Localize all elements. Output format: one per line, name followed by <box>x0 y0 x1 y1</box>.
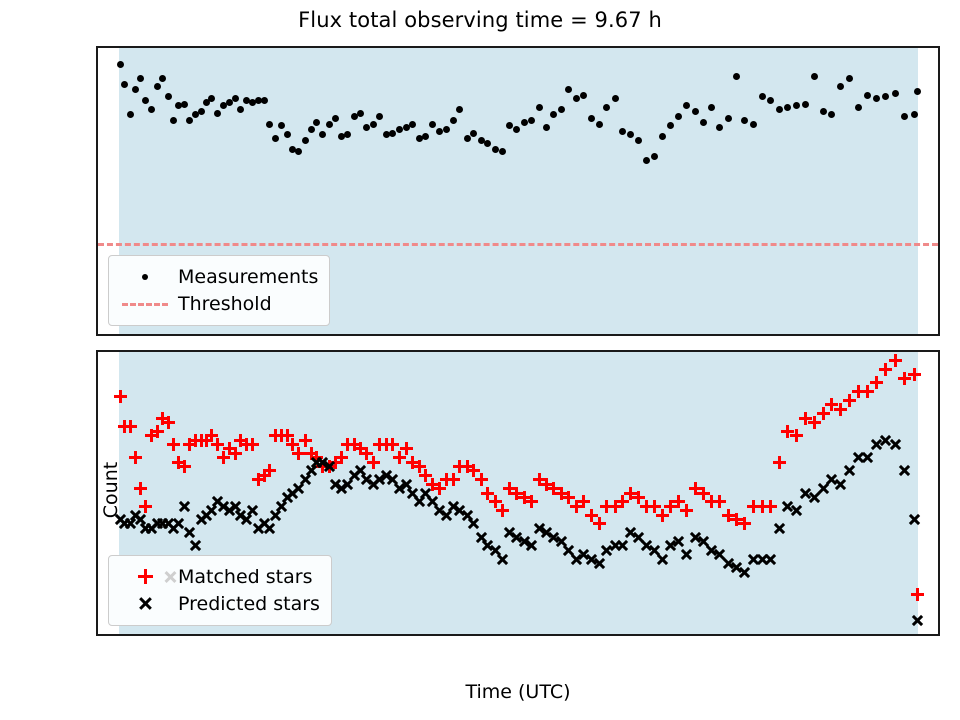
dot-marker-icon <box>120 266 170 288</box>
measurement-point <box>363 124 370 131</box>
legend-item-measurements: Measurements <box>120 263 318 290</box>
measurement-point <box>635 137 642 144</box>
predicted-star-point <box>178 500 191 513</box>
matched-star-point <box>496 504 509 517</box>
measurement-point <box>332 115 339 122</box>
measurement-point <box>759 93 766 100</box>
predicted-star-point <box>773 522 786 535</box>
measurement-point <box>261 97 268 104</box>
matched-star-point <box>386 438 399 451</box>
x-tick-mark <box>796 635 798 636</box>
y-tick-mark <box>96 153 97 155</box>
predicted-star-point <box>467 517 480 530</box>
x-tick-mark <box>383 635 385 636</box>
measurement-point <box>536 104 543 111</box>
y-tick-mark <box>96 334 97 336</box>
measurement-point <box>170 117 177 124</box>
measurement-point <box>214 110 221 117</box>
measurement-point <box>396 126 403 133</box>
cross-marker-icon <box>120 593 170 615</box>
matched-star-point <box>246 438 259 451</box>
predicted-star-point <box>898 464 911 477</box>
x-tick-mark <box>135 635 137 636</box>
measurement-point <box>901 113 908 120</box>
x-tick-mark <box>879 635 881 636</box>
predicted-star-point <box>496 553 509 566</box>
matched-star-point <box>167 438 180 451</box>
matched-star-point <box>162 416 175 429</box>
matched-star-point <box>889 354 902 367</box>
predicted-star-point <box>843 464 856 477</box>
x-tick-mark <box>879 335 881 336</box>
measurement-point <box>198 108 205 115</box>
legend-item-predicted-stars: Predicted stars <box>120 590 320 617</box>
bottom-panel-legend: Matched stars Predicted stars <box>108 555 332 626</box>
x-tick-mark <box>218 335 220 336</box>
measurement-point <box>596 121 603 128</box>
x-tick-mark <box>466 635 468 636</box>
figure-root: Flux total observing time = 9.67 h 0.00.… <box>0 0 960 720</box>
matched-star-point <box>773 456 786 469</box>
measurement-point <box>573 95 580 102</box>
measurement-point <box>659 133 666 140</box>
measurement-point <box>181 101 188 108</box>
matched-star-point <box>764 500 777 513</box>
measurement-point <box>492 146 499 153</box>
measurement-point <box>302 137 309 144</box>
matched-star-point <box>593 517 606 530</box>
measurement-point <box>914 88 921 95</box>
x-axis-label: Time (UTC) <box>96 681 940 703</box>
legend-label-predicted-stars: Predicted stars <box>178 593 320 615</box>
figure-title: Flux total observing time = 9.67 h <box>0 8 960 32</box>
measurement-point <box>692 108 699 115</box>
measurement-point <box>619 128 626 135</box>
measurement-point <box>820 108 827 115</box>
measurement-point <box>521 119 528 126</box>
x-tick-mark <box>631 635 633 636</box>
measurement-point <box>117 61 124 68</box>
bottom-panel-axes: 406080 20:0021:0022:0023:0000:0001:0002:… <box>96 350 940 636</box>
legend-label-threshold: Threshold <box>178 293 272 315</box>
measurement-point <box>700 119 707 126</box>
legend-label-matched-stars: Matched stars <box>178 566 312 588</box>
predicted-star-point <box>764 553 777 566</box>
x-tick-mark <box>796 335 798 336</box>
measurement-point <box>266 121 273 128</box>
measurement-point <box>499 148 506 155</box>
top-panel-legend: Measurements Threshold <box>108 255 330 326</box>
predicted-star-point <box>525 539 538 552</box>
predicted-star-point <box>672 535 685 548</box>
matched-star-point <box>870 376 883 389</box>
x-tick-mark <box>466 335 468 336</box>
measurement-point <box>409 121 416 128</box>
measurement-point <box>443 126 450 133</box>
y-tick-mark <box>96 427 97 429</box>
predicted-star-point <box>911 614 924 627</box>
measurement-point <box>837 83 844 90</box>
measurement-point <box>776 106 783 113</box>
predicted-star-point <box>183 526 196 539</box>
y-tick-mark <box>96 243 97 245</box>
predicted-star-point <box>323 460 336 473</box>
matched-star-point <box>263 464 276 477</box>
x-tick-mark <box>300 335 302 336</box>
measurement-point <box>284 131 291 138</box>
measurement-point <box>892 90 899 97</box>
measurement-point <box>802 101 809 108</box>
legend-label-measurements: Measurements <box>178 266 318 288</box>
measurement-point <box>429 121 436 128</box>
overlapping-cross-icon <box>163 570 177 584</box>
measurement-point <box>470 130 477 137</box>
matched-star-point <box>525 495 538 508</box>
matched-star-point <box>790 429 803 442</box>
x-tick-mark <box>218 635 220 636</box>
matched-star-point <box>447 473 460 486</box>
predicted-star-point <box>908 513 921 526</box>
matched-star-point <box>713 495 726 508</box>
measurement-point <box>580 92 587 99</box>
predicted-star-point <box>834 478 847 491</box>
y-tick-mark <box>96 62 97 64</box>
predicted-star-point <box>656 553 669 566</box>
predicted-star-point <box>263 522 276 535</box>
measurement-point <box>326 121 333 128</box>
x-tick-mark <box>548 635 550 636</box>
y-tick-mark <box>96 515 97 517</box>
matched-star-point <box>400 442 413 455</box>
measurement-point <box>295 148 302 155</box>
measurement-point <box>357 110 364 117</box>
x-tick-mark <box>135 335 137 336</box>
x-tick-mark <box>713 335 715 336</box>
measurement-point <box>121 81 128 88</box>
measurement-point <box>232 95 239 102</box>
legend-item-threshold: Threshold <box>120 290 318 317</box>
predicted-star-point <box>889 438 902 451</box>
x-tick-mark <box>383 335 385 336</box>
plus-marker-icon <box>120 566 170 588</box>
matched-star-point <box>129 451 142 464</box>
predicted-star-point <box>790 504 803 517</box>
predicted-star-point <box>616 539 629 552</box>
x-tick-mark <box>713 635 715 636</box>
predicted-star-point <box>189 539 202 552</box>
matched-star-point <box>299 434 312 447</box>
measurement-point <box>864 92 871 99</box>
measurement-point <box>558 106 565 113</box>
measurement-point <box>154 83 161 90</box>
matched-star-point <box>292 447 305 460</box>
x-tick-mark <box>548 335 550 336</box>
x-tick-mark <box>631 335 633 336</box>
top-panel-axes: 0.00.51.01.5 Matched/Predicted stars Mea… <box>96 46 940 336</box>
dashed-line-icon <box>120 293 170 315</box>
matched-star-point <box>475 473 488 486</box>
matched-star-point <box>577 495 590 508</box>
matched-star-point <box>178 460 191 473</box>
measurement-point <box>767 97 774 104</box>
predicted-star-point <box>593 557 606 570</box>
measurement-point <box>186 117 193 124</box>
measurement-point <box>464 135 471 142</box>
predicted-star-point <box>246 504 259 517</box>
matched-star-point <box>911 588 924 601</box>
matched-star-point <box>134 482 147 495</box>
matched-star-point <box>124 420 137 433</box>
predicted-star-point <box>738 566 751 579</box>
y-tick-mark <box>96 603 97 605</box>
measurement-point <box>450 117 457 124</box>
threshold-line <box>98 243 938 246</box>
predicted-star-point <box>861 451 874 464</box>
measurement-point <box>725 115 732 122</box>
matched-star-point <box>908 368 921 381</box>
legend-item-matched-stars: Matched stars <box>120 563 320 590</box>
matched-star-point <box>335 451 348 464</box>
measurement-point <box>308 126 315 133</box>
matched-star-point <box>367 456 380 469</box>
measurement-point <box>436 128 443 135</box>
x-tick-mark <box>300 635 302 636</box>
measurement-point <box>750 121 757 128</box>
measurement-point <box>528 117 535 124</box>
matched-star-point <box>738 517 751 530</box>
measurement-point <box>612 95 619 102</box>
predicted-star-point <box>680 548 693 561</box>
measurement-point <box>643 157 650 164</box>
measurement-point <box>370 121 377 128</box>
matched-star-point <box>680 504 693 517</box>
